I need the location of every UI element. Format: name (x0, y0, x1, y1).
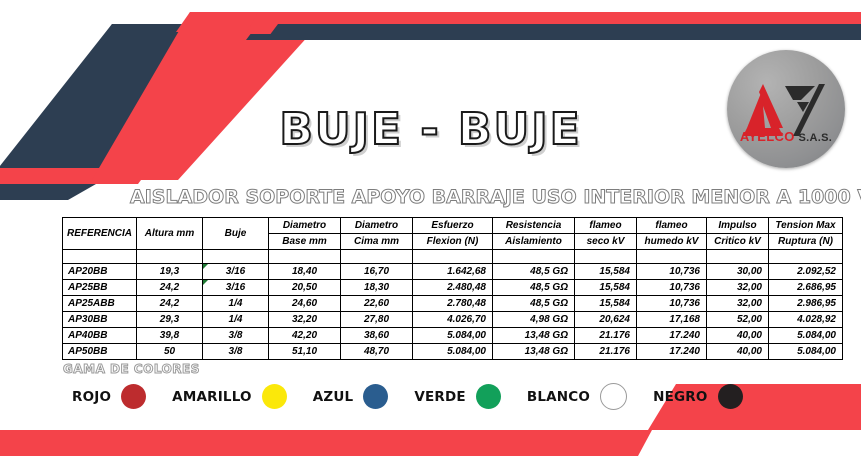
col-esfuerzo-top: Esfuerzo (413, 218, 493, 234)
cell-flameo_humedo_kv: 10,736 (637, 296, 707, 312)
cell-diametro_base_mm: 32,20 (269, 312, 341, 328)
cell-flameo_seco_kv: 15,584 (575, 296, 637, 312)
col-flameo-humedo-bottom: humedo kV (637, 234, 707, 250)
color-swatch-row: ROJOAMARILLOAZULVERDEBLANCONEGRO (72, 383, 769, 410)
cell-diametro_base_mm: 18,40 (269, 264, 341, 280)
col-diametro-base-top: Diametro (269, 218, 341, 234)
cell-resistencia_aislamiento: 48,5 GΩ (493, 280, 575, 296)
cell-diametro_cima_mm: 38,60 (341, 328, 413, 344)
cell-tension_max_ruptura_n: 4.028,92 (769, 312, 843, 328)
cell-esfuerzo_flexion_n: 4.026,70 (413, 312, 493, 328)
table-spacer-row (63, 250, 843, 264)
cell-flameo_humedo_kv: 10,736 (637, 280, 707, 296)
col-diametro-base-bottom: Base mm (269, 234, 341, 250)
col-altura: Altura mm (137, 218, 203, 250)
cell-tension_max_ruptura_n: 2.986,95 (769, 296, 843, 312)
cell-referencia: AP40BB (63, 328, 137, 344)
swatch-dot-amarillo (262, 384, 287, 409)
swatch-item-blanco: BLANCO (527, 383, 627, 410)
cell-diametro_cima_mm: 18,30 (341, 280, 413, 296)
cell-diametro_cima_mm: 16,70 (341, 264, 413, 280)
col-flameo-seco-bottom: seco kV (575, 234, 637, 250)
table-row: AP30BB29,31/432,2027,804.026,704,98 GΩ20… (63, 312, 843, 328)
swatch-dot-blanco (600, 383, 627, 410)
cell-referencia: AP25ABB (63, 296, 137, 312)
swatch-dot-negro (718, 384, 743, 409)
cell-buje: 3/16 (203, 264, 269, 280)
cell-altura_mm: 24,2 (137, 280, 203, 296)
col-esfuerzo-bottom: Flexion (N) (413, 234, 493, 250)
cell-esfuerzo_flexion_n: 1.642,68 (413, 264, 493, 280)
table-row: AP50BB503/851,1048,705.084,0013,48 GΩ21.… (63, 344, 843, 360)
cell-impulso_critico_kv: 32,00 (707, 296, 769, 312)
cell-tension_max_ruptura_n: 5.084,00 (769, 344, 843, 360)
cell-impulso_critico_kv: 30,00 (707, 264, 769, 280)
cell-buje: 1/4 (203, 312, 269, 328)
page-title: BUJE - BUJE (0, 104, 861, 155)
swatch-label: BLANCO (527, 389, 590, 405)
cell-flameo_seco_kv: 21.176 (575, 328, 637, 344)
cell-referencia: AP20BB (63, 264, 137, 280)
cell-impulso_critico_kv: 40,00 (707, 328, 769, 344)
cell-diametro_cima_mm: 27,80 (341, 312, 413, 328)
swatch-label: AZUL (313, 389, 354, 405)
cell-flameo_humedo_kv: 17.240 (637, 344, 707, 360)
table-row: AP25ABB24,21/424,6022,602.780,4848,5 GΩ1… (63, 296, 843, 312)
cell-impulso_critico_kv: 40,00 (707, 344, 769, 360)
swatch-label: AMARILLO (172, 389, 252, 405)
swatch-item-verde: VERDE (414, 384, 501, 409)
cell-diametro_cima_mm: 48,70 (341, 344, 413, 360)
col-tension-max-bottom: Ruptura (N) (769, 234, 843, 250)
cell-tension_max_ruptura_n: 5.084,00 (769, 328, 843, 344)
table-row: AP40BB39,83/842,2038,605.084,0013,48 GΩ2… (63, 328, 843, 344)
cell-resistencia_aislamiento: 13,48 GΩ (493, 328, 575, 344)
col-flameo-seco-top: flameo (575, 218, 637, 234)
cell-impulso_critico_kv: 32,00 (707, 280, 769, 296)
cell-diametro_base_mm: 51,10 (269, 344, 341, 360)
cell-tension_max_ruptura_n: 2.092,52 (769, 264, 843, 280)
cell-esfuerzo_flexion_n: 5.084,00 (413, 344, 493, 360)
cell-esfuerzo_flexion_n: 5.084,00 (413, 328, 493, 344)
cell-altura_mm: 19,3 (137, 264, 203, 280)
col-resistencia-bottom: Aislamiento (493, 234, 575, 250)
cell-buje: 1/4 (203, 296, 269, 312)
cell-diametro_cima_mm: 22,60 (341, 296, 413, 312)
cell-flameo_humedo_kv: 17,168 (637, 312, 707, 328)
col-diametro-cima-top: Diametro (341, 218, 413, 234)
cell-flameo_humedo_kv: 17.240 (637, 328, 707, 344)
cell-buje: 3/8 (203, 344, 269, 360)
cell-flameo_seco_kv: 20,624 (575, 312, 637, 328)
cell-flameo_seco_kv: 15,584 (575, 280, 637, 296)
slide-canvas: AYELCO S.A.S. BUJE - BUJE AISLADOR SOPOR… (0, 0, 861, 472)
swatch-item-rojo: ROJO (72, 384, 146, 409)
swatch-item-negro: NEGRO (653, 384, 742, 409)
cell-referencia: AP50BB (63, 344, 137, 360)
swatch-label: NEGRO (653, 389, 707, 405)
cell-buje: 3/16 (203, 280, 269, 296)
col-resistencia-top: Resistencia (493, 218, 575, 234)
swatch-item-azul: AZUL (313, 384, 389, 409)
spec-table-head: REFERENCIA Altura mm Buje Diametro Diame… (63, 218, 843, 250)
gama-heading: GAMA DE COLORES (63, 362, 200, 376)
spec-table-body: AP20BB19,33/1618,4016,701.642,6848,5 GΩ1… (63, 250, 843, 360)
cell-flameo_humedo_kv: 10,736 (637, 264, 707, 280)
cell-altura_mm: 39,8 (137, 328, 203, 344)
cell-resistencia_aislamiento: 48,5 GΩ (493, 264, 575, 280)
swatch-label: ROJO (72, 389, 111, 405)
table-row: AP20BB19,33/1618,4016,701.642,6848,5 GΩ1… (63, 264, 843, 280)
cell-referencia: AP30BB (63, 312, 137, 328)
cell-diametro_base_mm: 24,60 (269, 296, 341, 312)
col-tension-max-top: Tension Max (769, 218, 843, 234)
swatch-item-amarillo: AMARILLO (172, 384, 287, 409)
cell-altura_mm: 50 (137, 344, 203, 360)
cell-esfuerzo_flexion_n: 2.780,48 (413, 296, 493, 312)
table-row: AP25BB24,23/1620,5018,302.480,4848,5 GΩ1… (63, 280, 843, 296)
cell-resistencia_aislamiento: 4,98 GΩ (493, 312, 575, 328)
cell-flameo_seco_kv: 21.176 (575, 344, 637, 360)
cell-resistencia_aislamiento: 48,5 GΩ (493, 296, 575, 312)
swatch-dot-verde (476, 384, 501, 409)
cell-altura_mm: 24,2 (137, 296, 203, 312)
col-diametro-cima-bottom: Cima mm (341, 234, 413, 250)
spec-table: REFERENCIA Altura mm Buje Diametro Diame… (62, 217, 843, 360)
spec-table-wrapper: REFERENCIA Altura mm Buje Diametro Diame… (62, 217, 818, 360)
col-referencia: REFERENCIA (63, 218, 137, 250)
cell-altura_mm: 29,3 (137, 312, 203, 328)
col-impulso-bottom: Critico kV (707, 234, 769, 250)
cell-esfuerzo_flexion_n: 2.480,48 (413, 280, 493, 296)
col-impulso-top: Impulso (707, 218, 769, 234)
header-row-top: REFERENCIA Altura mm Buje Diametro Diame… (63, 218, 843, 234)
swatch-label: VERDE (414, 389, 466, 405)
cell-resistencia_aislamiento: 13,48 GΩ (493, 344, 575, 360)
cell-diametro_base_mm: 42,20 (269, 328, 341, 344)
cell-buje: 3/8 (203, 328, 269, 344)
cell-referencia: AP25BB (63, 280, 137, 296)
cell-impulso_critico_kv: 52,00 (707, 312, 769, 328)
col-buje: Buje (203, 218, 269, 250)
cell-flameo_seco_kv: 15,584 (575, 264, 637, 280)
page-subtitle: AISLADOR SOPORTE APOYO BARRAJE USO INTER… (130, 186, 861, 208)
col-flameo-humedo-top: flameo (637, 218, 707, 234)
cell-tension_max_ruptura_n: 2.686,95 (769, 280, 843, 296)
swatch-dot-azul (363, 384, 388, 409)
swatch-dot-rojo (121, 384, 146, 409)
cell-diametro_base_mm: 20,50 (269, 280, 341, 296)
